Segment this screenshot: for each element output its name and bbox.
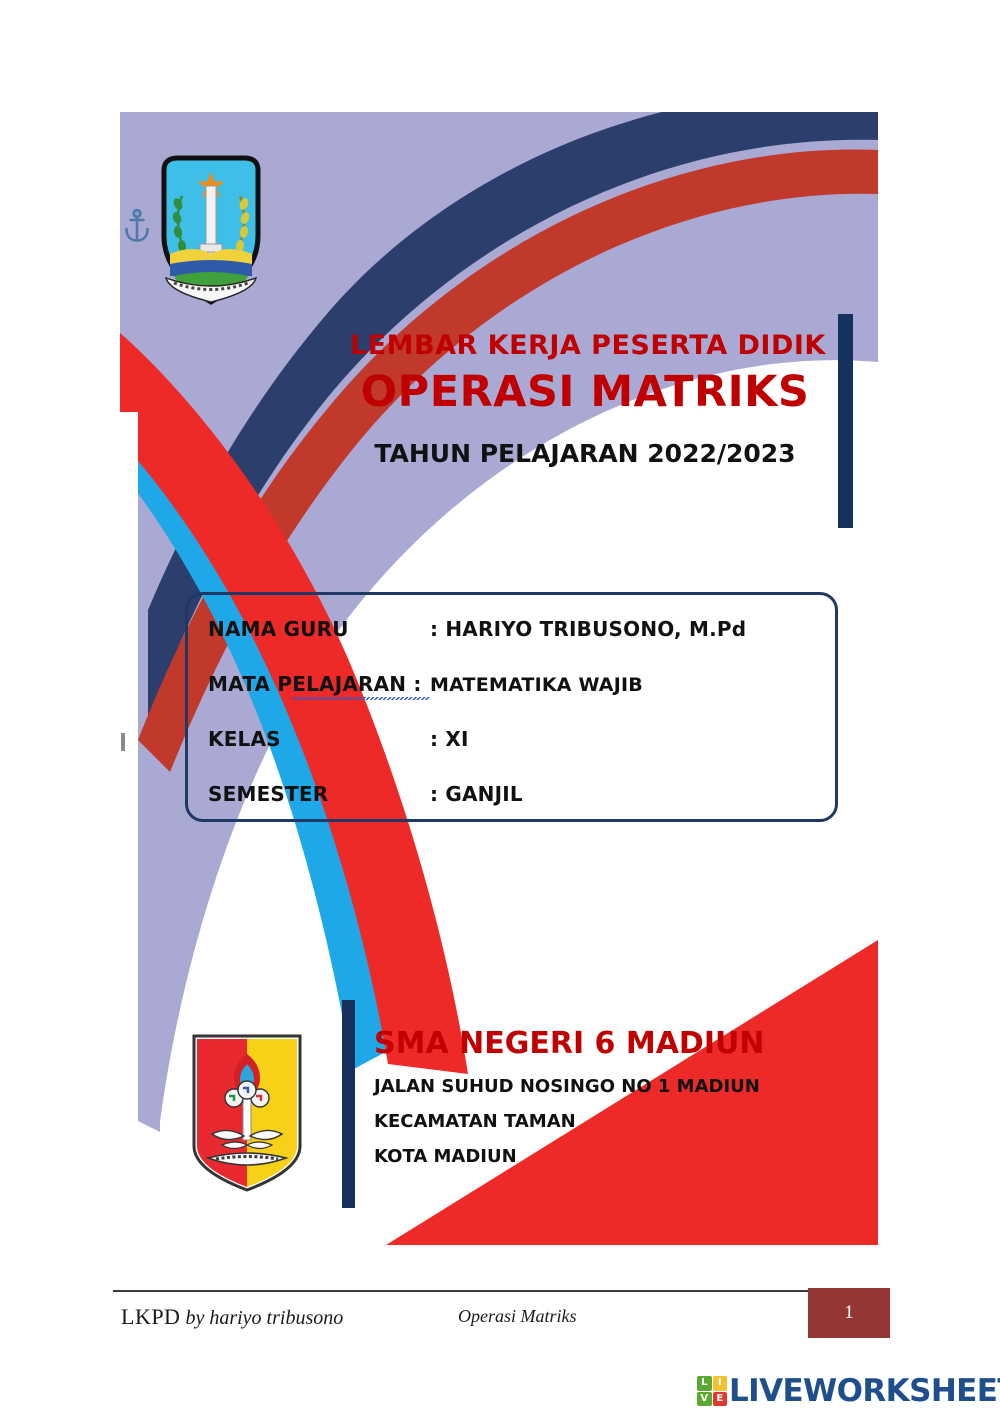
sman6-madiun-school-emblem	[188, 1030, 306, 1195]
school-accent-bar	[342, 1000, 355, 1208]
page-number: 1	[844, 1302, 854, 1324]
text-caret-mark	[121, 733, 125, 751]
liveworksheets-wordmark: LIVEWORKSHEETS	[729, 1376, 1000, 1407]
info-value-subject: MATEMATIKA WAJIB	[430, 674, 643, 696]
info-value-teacher: : HARIYO TRIBUSONO, M.Pd	[430, 617, 746, 641]
footer-divider	[113, 1290, 813, 1292]
info-label-semester: SEMESTER	[208, 782, 430, 806]
school-address-line-3: KOTA MADIUN	[374, 1146, 814, 1167]
school-info-block: SMA NEGERI 6 MADIUN JALAN SUHUD NOSINGO …	[374, 1026, 814, 1167]
cover-title-block: LEMBAR KERJA PESERTA DIDIK OPERASI MATRI…	[350, 330, 820, 469]
info-value-semester: : GANJIL	[430, 782, 523, 806]
title-accent-bar	[838, 314, 853, 528]
liveworksheets-branding[interactable]: L I V E LIVEWORKSHEETS	[697, 1374, 1000, 1408]
school-name: SMA NEGERI 6 MADIUN	[374, 1026, 814, 1062]
anchor-icon	[122, 208, 152, 244]
school-address-line-2: KECAMATAN TAMAN	[374, 1111, 814, 1132]
info-label-subject: MATA PELAJARAN :	[208, 672, 430, 696]
page-number-badge: 1	[808, 1288, 890, 1338]
footer-lkpd-label: LKPD	[121, 1304, 180, 1329]
info-label-teacher: NAMA GURU	[208, 617, 430, 641]
info-row-teacher: NAMA GURU : HARIYO TRIBUSONO, M.Pd	[208, 617, 828, 641]
info-row-semester: SEMESTER : GANJIL	[208, 782, 828, 806]
logo-tile-v: V	[697, 1392, 712, 1407]
school-address-line-1: JALAN SUHUD NOSINGO NO 1 MADIUN	[374, 1076, 814, 1097]
info-row-grade: KELAS : XI	[208, 727, 828, 751]
east-java-province-emblem	[152, 152, 270, 307]
school-year-line: TAHUN PELAJARAN 2022/2023	[350, 439, 820, 469]
liveworksheets-logo-icon: L I V E	[697, 1376, 727, 1406]
info-label-grade: KELAS	[208, 727, 430, 751]
course-info-box: NAMA GURU : HARIYO TRIBUSONO, M.Pd MATA …	[185, 592, 838, 822]
logo-tile-i: I	[713, 1376, 728, 1391]
page-title: OPERASI MATRIKS	[350, 367, 820, 419]
info-value-grade: : XI	[430, 727, 469, 751]
page-footer: LKPD by hariyo tribusono Operasi Matriks…	[113, 1290, 888, 1348]
logo-tile-l: L	[697, 1376, 712, 1391]
footer-center-text: Operasi Matriks	[458, 1306, 577, 1327]
document-page: LEMBAR KERJA PESERTA DIDIK OPERASI MATRI…	[0, 0, 1000, 1413]
footer-left-text: LKPD by hariyo tribusono	[121, 1304, 343, 1330]
logo-tile-e: E	[713, 1392, 728, 1407]
footer-author: by hariyo tribusono	[185, 1307, 343, 1329]
cover-header-line: LEMBAR KERJA PESERTA DIDIK	[350, 330, 820, 361]
decor-left-white-edge	[120, 412, 138, 1245]
info-row-subject: MATA PELAJARAN : MATEMATIKA WAJIB	[208, 672, 828, 696]
